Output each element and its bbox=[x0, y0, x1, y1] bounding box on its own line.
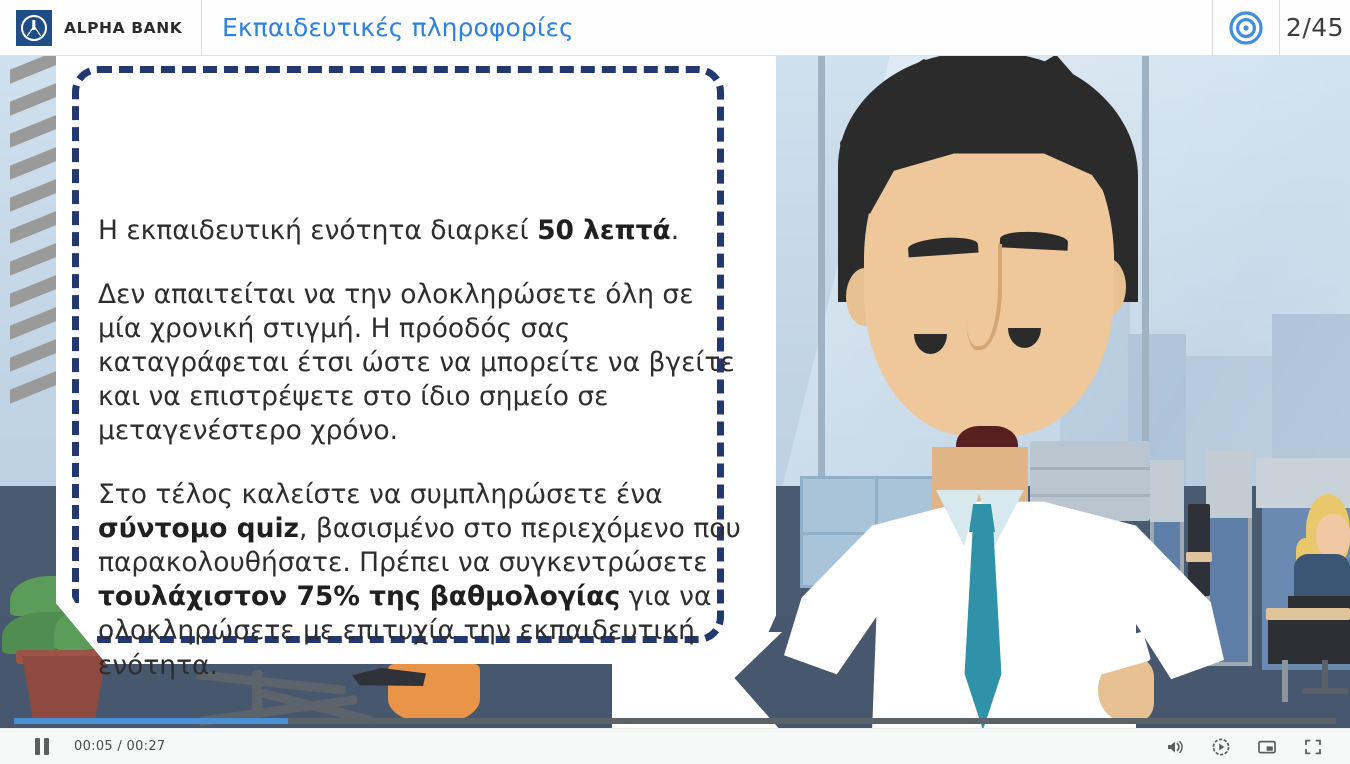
time-display: 00:05 / 00:27 bbox=[74, 739, 165, 754]
character-presenter bbox=[760, 56, 1350, 728]
playback-speed-icon bbox=[1211, 737, 1231, 757]
pause-button[interactable] bbox=[20, 729, 64, 764]
plant-pot bbox=[22, 656, 106, 724]
slide-paragraph: Στο τέλος καλείστε να συμπληρώσετε ένα σ… bbox=[98, 478, 744, 682]
objectives-button[interactable] bbox=[1212, 0, 1280, 56]
volume-button[interactable] bbox=[1152, 729, 1198, 764]
body-text: Δεν απαιτείται να την ολοκληρώσετε όλη σ… bbox=[98, 279, 735, 446]
emphasis-text: σύντομο quiz bbox=[98, 513, 299, 544]
volume-icon bbox=[1165, 737, 1185, 757]
picture-in-picture-button[interactable] bbox=[1244, 729, 1290, 764]
character-tie-knot bbox=[969, 504, 995, 532]
progress-bar-fill bbox=[14, 718, 288, 724]
brand-block: ALPHA BANK bbox=[0, 0, 201, 56]
video-stage[interactable]: Η εκπαιδευτική ενότητα διαρκεί 50 λεπτά.… bbox=[0, 56, 1350, 728]
emphasis-text: 50 λεπτά bbox=[537, 215, 671, 246]
app-header: ALPHA BANK Εκπαιδευτικές πληροφορίες 2/4… bbox=[0, 0, 1350, 56]
body-text: . bbox=[671, 215, 679, 246]
scene-illustration: Η εκπαιδευτική ενότητα διαρκεί 50 λεπτά.… bbox=[0, 56, 1350, 728]
slide-paragraph: Η εκπαιδευτική ενότητα διαρκεί 50 λεπτά. bbox=[98, 214, 744, 248]
player-page: ALPHA BANK Εκπαιδευτικές πληροφορίες 2/4… bbox=[0, 0, 1350, 764]
bullseye-target-icon bbox=[1228, 10, 1264, 46]
logo-glyph bbox=[21, 15, 47, 41]
brand-name: ALPHA BANK bbox=[64, 19, 182, 37]
progress-bar[interactable] bbox=[14, 718, 1336, 724]
controls-right-group bbox=[1152, 729, 1350, 764]
player-controls: 00:05 / 00:27 bbox=[0, 728, 1350, 764]
alpha-bank-logo-icon bbox=[16, 10, 52, 46]
picture-in-picture-icon bbox=[1257, 737, 1277, 757]
playback-speed-button[interactable] bbox=[1198, 729, 1244, 764]
slide-counter: 2/45 bbox=[1280, 13, 1350, 42]
page-title: Εκπαιδευτικές πληροφορίες bbox=[202, 13, 1212, 42]
fullscreen-icon bbox=[1303, 737, 1323, 757]
body-text: Η εκπαιδευτική ενότητα διαρκεί bbox=[98, 215, 537, 246]
body-text: Στο τέλος καλείστε να συμπληρώσετε ένα bbox=[98, 479, 663, 510]
slide-paragraph: Δεν απαιτείται να την ολοκληρώσετε όλη σ… bbox=[98, 278, 744, 448]
pause-icon bbox=[35, 738, 49, 755]
fullscreen-button[interactable] bbox=[1290, 729, 1336, 764]
emphasis-text: τουλάχιστον 75% της βαθμολογίας bbox=[98, 581, 620, 612]
slide-body-text: Η εκπαιδευτική ενότητα διαρκεί 50 λεπτά.… bbox=[98, 214, 744, 683]
